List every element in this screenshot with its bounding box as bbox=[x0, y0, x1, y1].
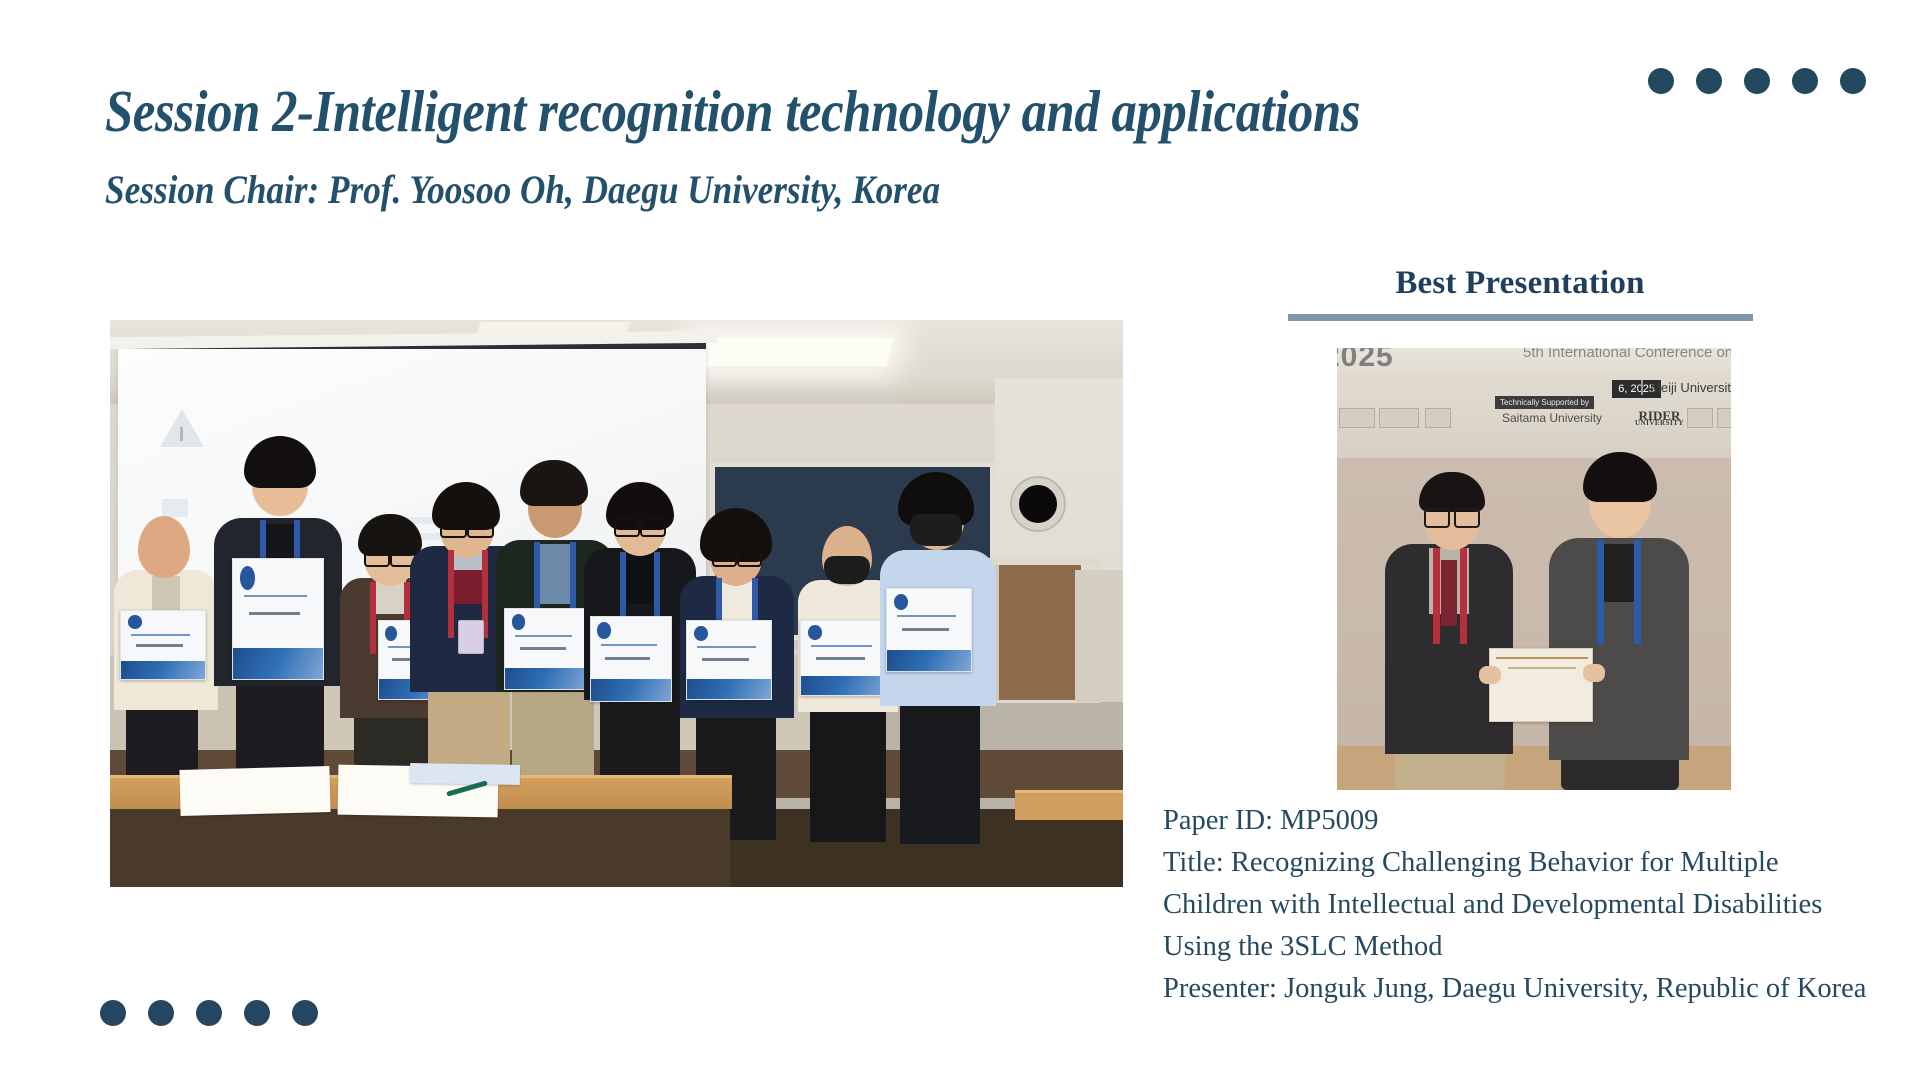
person-8-certificate bbox=[800, 620, 888, 696]
rider-sub: UNIVERSITY bbox=[1635, 421, 1684, 427]
panel-divider bbox=[1288, 314, 1753, 321]
desk-front-panel bbox=[110, 809, 730, 887]
person-4-badge bbox=[458, 620, 484, 654]
certificate-band bbox=[887, 650, 971, 671]
certificate-seal bbox=[808, 625, 823, 640]
best-presentation-panel: Best Presentation bbox=[1160, 265, 1880, 321]
certificate-seal bbox=[894, 594, 908, 610]
person-7-certificate bbox=[686, 620, 772, 700]
dot bbox=[1792, 68, 1818, 94]
certificate-name bbox=[520, 647, 566, 650]
decorative-dots-bottom-left bbox=[100, 1000, 318, 1026]
desk-paper-blue bbox=[410, 763, 520, 785]
certificate-seal bbox=[128, 615, 142, 629]
certificate-line bbox=[811, 645, 871, 647]
panel-title: Best Presentation bbox=[1160, 265, 1880, 302]
decorative-dots-top-right bbox=[1648, 68, 1866, 94]
session-group-photo bbox=[110, 320, 1123, 887]
award-hand-left bbox=[1479, 666, 1501, 684]
person-9-legs bbox=[900, 692, 980, 844]
person-3-glasses bbox=[364, 548, 416, 563]
session-chair-subtitle: Session Chair: Prof. Yoosoo Oh, Daegu Un… bbox=[105, 170, 940, 210]
dot bbox=[1648, 68, 1674, 94]
certificate-line bbox=[697, 646, 756, 648]
sponsor-logo-5 bbox=[1717, 408, 1731, 428]
room-door bbox=[995, 565, 1081, 700]
certificate-name bbox=[136, 644, 183, 647]
certificate-band bbox=[505, 668, 587, 689]
screen-blob-1 bbox=[162, 499, 188, 517]
person-7-glasses bbox=[712, 548, 762, 563]
award-person-left-glasses bbox=[1423, 508, 1481, 524]
certificate-band bbox=[591, 679, 671, 701]
certificate-line bbox=[131, 634, 190, 636]
certificate-band bbox=[687, 679, 771, 699]
certificate-line bbox=[515, 635, 572, 637]
certificate-line bbox=[244, 595, 307, 597]
certificate-name bbox=[902, 628, 949, 631]
banner-support-label: Technically Supported by bbox=[1495, 396, 1594, 409]
banner-conference-text: 5th International Conference on bbox=[1523, 348, 1731, 361]
person-1-certificate bbox=[120, 610, 206, 680]
person-6-certificate bbox=[590, 616, 672, 702]
sponsor-logo-1 bbox=[1339, 408, 1375, 428]
screen-warning-bang bbox=[180, 427, 183, 441]
conference-banner: 2025 5th International Conference on 6, … bbox=[1337, 348, 1731, 458]
desk-paper-stack-left bbox=[179, 766, 330, 816]
award-certificate bbox=[1489, 648, 1593, 722]
banner-sponsor-rider: RIDER UNIVERSITY bbox=[1635, 410, 1684, 427]
banner-venue-text: Meiji Universit bbox=[1641, 380, 1731, 395]
certificate-band bbox=[233, 648, 323, 679]
paper-presenter-line: Presenter: Jonguk Jung, Daegu University… bbox=[1163, 968, 1883, 1010]
person-8-legs bbox=[810, 692, 886, 842]
certificate-name bbox=[702, 658, 749, 661]
sponsor-logo-3 bbox=[1425, 408, 1451, 428]
certificate-name bbox=[605, 657, 650, 660]
dot bbox=[1696, 68, 1722, 94]
certificate-band bbox=[121, 661, 205, 679]
certificate-seal bbox=[512, 614, 526, 630]
dot bbox=[100, 1000, 126, 1026]
award-person-left-lanyard bbox=[1433, 548, 1467, 644]
person-2-certificate bbox=[232, 558, 324, 680]
dot bbox=[196, 1000, 222, 1026]
award-person-right-lanyard bbox=[1597, 540, 1641, 644]
wall-vent-icon bbox=[1012, 478, 1064, 530]
dot bbox=[148, 1000, 174, 1026]
person-5-certificate bbox=[504, 608, 588, 690]
banner-sponsor-saitama: Saitama University bbox=[1502, 411, 1602, 425]
certificate-band bbox=[801, 676, 887, 695]
dot bbox=[292, 1000, 318, 1026]
person-8-face-mask bbox=[824, 556, 870, 584]
person-1-head bbox=[138, 516, 190, 578]
paper-title-line: Title: Recognizing Challenging Behavior … bbox=[1163, 842, 1883, 968]
certificate-seal bbox=[597, 622, 611, 639]
certificate-seal bbox=[240, 566, 255, 590]
certificate-name bbox=[816, 657, 864, 660]
certificate-seal bbox=[385, 626, 398, 642]
sponsor-logo-4 bbox=[1687, 408, 1713, 428]
person-4-glasses bbox=[440, 518, 494, 534]
person-9-face-mask bbox=[910, 514, 962, 546]
side-desk bbox=[1015, 790, 1123, 820]
award-ceremony-photo: 2025 5th International Conference on 6, … bbox=[1337, 348, 1731, 790]
award-hand-right bbox=[1583, 664, 1605, 682]
person-6-glasses bbox=[614, 518, 666, 533]
certificate-line bbox=[601, 644, 657, 646]
certificate-name bbox=[249, 612, 299, 615]
certificate-seal bbox=[694, 626, 708, 642]
dot bbox=[244, 1000, 270, 1026]
dot bbox=[1744, 68, 1770, 94]
person-9-certificate bbox=[886, 588, 972, 672]
session-title: Session 2-Intelligent recognition techno… bbox=[105, 82, 1360, 141]
side-cabinet bbox=[1075, 570, 1123, 702]
dot bbox=[1840, 68, 1866, 94]
paper-id-line: Paper ID: MP5009 bbox=[1163, 800, 1883, 842]
paper-details-block: Paper ID: MP5009 Title: Recognizing Chal… bbox=[1163, 800, 1883, 1009]
banner-year-text: 2025 bbox=[1337, 348, 1394, 374]
slide-canvas: Session 2-Intelligent recognition techno… bbox=[0, 0, 1920, 1078]
certificate-line bbox=[897, 615, 956, 617]
sponsor-logo-2 bbox=[1379, 408, 1419, 428]
